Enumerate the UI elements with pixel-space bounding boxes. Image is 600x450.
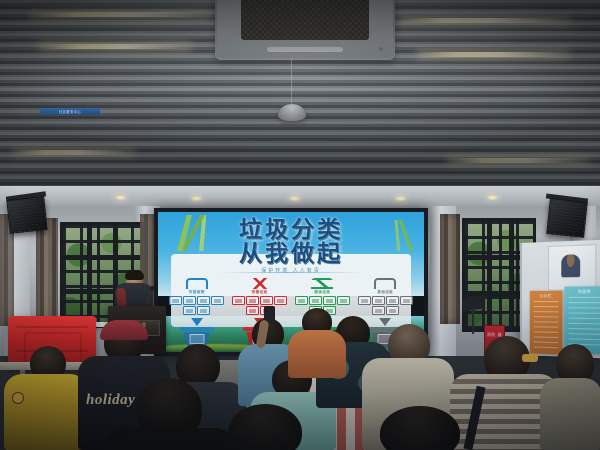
ceiling-soffit [0,186,600,208]
other-label: 其他垃圾 [377,290,393,295]
kitchen-symbol-icon [311,278,333,289]
recyclable-label: 可回收物 [189,290,205,295]
ceiling-drop-wire [291,58,292,106]
hazardous-label: 有害垃圾 [252,290,268,295]
microphone-head [150,286,155,291]
linear-led-strip [40,44,190,49]
board-base-rail: 社区服务中心 [40,108,100,115]
linear-led-strip [14,150,134,155]
photo-scene: 公示栏 制度牌 社区服务中心 消防 器材 垃圾分类 从我做起 [0,0,600,450]
jacket-text: holiday [86,392,135,409]
presenter-hair [125,270,144,280]
recessed-downlight [395,196,406,201]
notice-panel-teal-heading: 制度牌 [564,289,600,294]
wall-mounted-loudspeaker [6,196,47,234]
board-rail-text: 社区服务中心 [40,109,100,114]
recessed-downlight [289,196,300,201]
recessed-downlight [487,195,498,200]
ac-grille [241,0,369,40]
audience-area: holiday [0,300,600,450]
person-torso [540,378,600,450]
poster-title-line1: 垃圾分类 [239,217,343,243]
person-torso [288,330,346,378]
ceiling [0,0,600,196]
ceiling-cassette-air-conditioner [215,0,395,60]
notice-panel-orange-heading: 公示栏 [530,294,562,299]
poster-title-line2: 从我做起 [158,243,424,267]
kitchen-label: 厨余垃圾 [314,290,330,295]
ac-vent-slot [267,47,343,52]
linear-led-strip [30,12,210,17]
recessed-downlight [115,195,126,200]
volunteer-emblem-icon [12,392,24,404]
poster-title: 垃圾分类 从我做起 [158,219,424,267]
hazardous-symbol-icon [249,278,271,289]
portrait-photo-panel [548,244,596,291]
recyclable-symbol-icon [186,278,208,289]
linear-led-strip [448,158,588,163]
wall-mounted-loudspeaker [546,198,588,238]
person-torso [104,428,234,450]
person-torso [4,374,88,450]
eyewear [522,354,538,362]
person-cap [100,320,148,340]
recessed-downlight [191,196,202,201]
ceiling-speaker-dome [278,104,306,121]
linear-led-strip [400,18,570,23]
ac-indicator-dot [379,47,383,51]
poster-subtitle-rule [217,272,366,273]
other-symbol-icon [374,278,396,289]
linear-led-strip [418,52,568,57]
